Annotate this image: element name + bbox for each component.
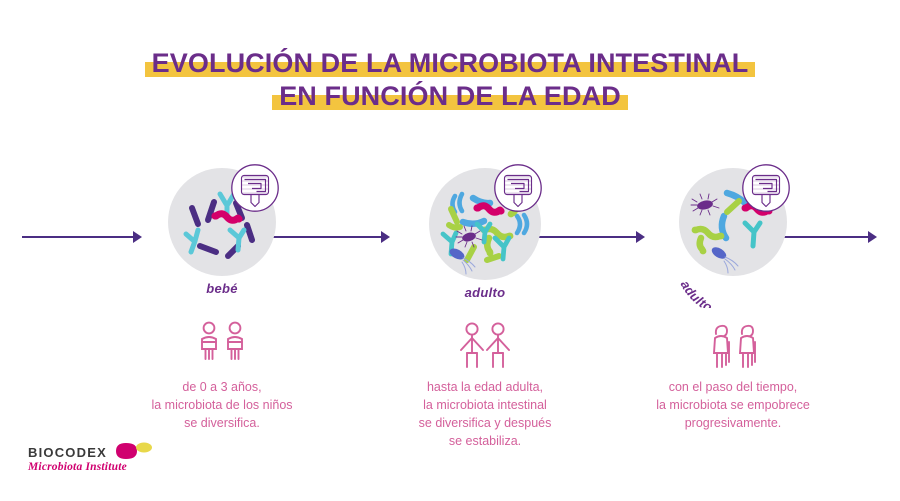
stage-label-adulto-mayor-wrap: adulto mayor <box>618 264 848 308</box>
stage-label-adulto-wrap: adulto <box>370 284 600 302</box>
svg-text:adulto mayor: adulto mayor <box>678 278 755 308</box>
biocodex-capsule-icon <box>114 442 154 460</box>
petri-dish-adulto-mayor: adulto mayor <box>618 168 848 308</box>
caption-line: se diversifica y después <box>370 414 600 432</box>
stage-adulto-mayor: adulto mayor con el paso del tiempo, <box>618 168 848 432</box>
logo-tagline: Microbiota Institute <box>28 462 178 474</box>
caption-line: hasta la edad adulta, <box>370 378 600 396</box>
petri-dish-bebe: bebé <box>107 168 337 308</box>
title-text-1: EVOLUCIÓN DE LA MICROBIOTA INTESTINAL <box>152 48 749 78</box>
stage-label-bebe-wrap: bebé <box>107 280 337 298</box>
caption-line: la microbiota intestinal <box>370 396 600 414</box>
infographic-canvas: EVOLUCIÓN DE LA MICROBIOTA INTESTINAL EN… <box>0 0 900 501</box>
page-title: EVOLUCIÓN DE LA MICROBIOTA INTESTINAL EN… <box>0 50 900 110</box>
title-text-2: EN FUNCIÓN DE LA EDAD <box>279 81 621 111</box>
stage-bebe: bebé de 0 a 3 años, la microbiota de lo <box>107 168 337 432</box>
two-adults-icon <box>370 322 600 368</box>
caption-line: de 0 a 3 años, <box>107 378 337 396</box>
flagellate-purple <box>691 194 719 215</box>
caption-line: la microbiota de los niños <box>107 396 337 414</box>
intestine-icon <box>739 163 793 217</box>
stage-label-adulto: adulto <box>465 285 506 300</box>
intestine-icon <box>491 163 545 217</box>
stage-label-adulto-mayor: adulto mayor <box>678 278 755 308</box>
intestine-icon <box>228 163 282 217</box>
biocodex-logo[interactable]: BIOCODEX Microbiota Institute <box>28 446 178 488</box>
caption-line: se estabiliza. <box>370 432 600 450</box>
two-elders-icon <box>618 322 848 368</box>
caption-bebe: de 0 a 3 años, la microbiota de los niño… <box>107 378 337 432</box>
caption-adulto: hasta la edad adulta, la microbiota inte… <box>370 378 600 451</box>
petri-dish-adulto: adulto <box>370 168 600 308</box>
stage-label-bebe: bebé <box>206 281 238 296</box>
caption-adulto-mayor: con el paso del tiempo, la microbiota se… <box>618 378 848 432</box>
caption-line: se diversifica. <box>107 414 337 432</box>
title-line-2: EN FUNCIÓN DE LA EDAD <box>279 83 621 110</box>
two-children-icon <box>107 318 337 364</box>
caption-line: con el paso del tiempo, <box>618 378 848 396</box>
stage-adulto: adulto hasta la edad ad <box>370 168 600 451</box>
caption-line: progresivamente. <box>618 414 848 432</box>
logo-brand: BIOCODEX <box>28 446 178 459</box>
caption-line: la microbiota se empobrece <box>618 396 848 414</box>
title-line-1: EVOLUCIÓN DE LA MICROBIOTA INTESTINAL <box>152 50 749 77</box>
